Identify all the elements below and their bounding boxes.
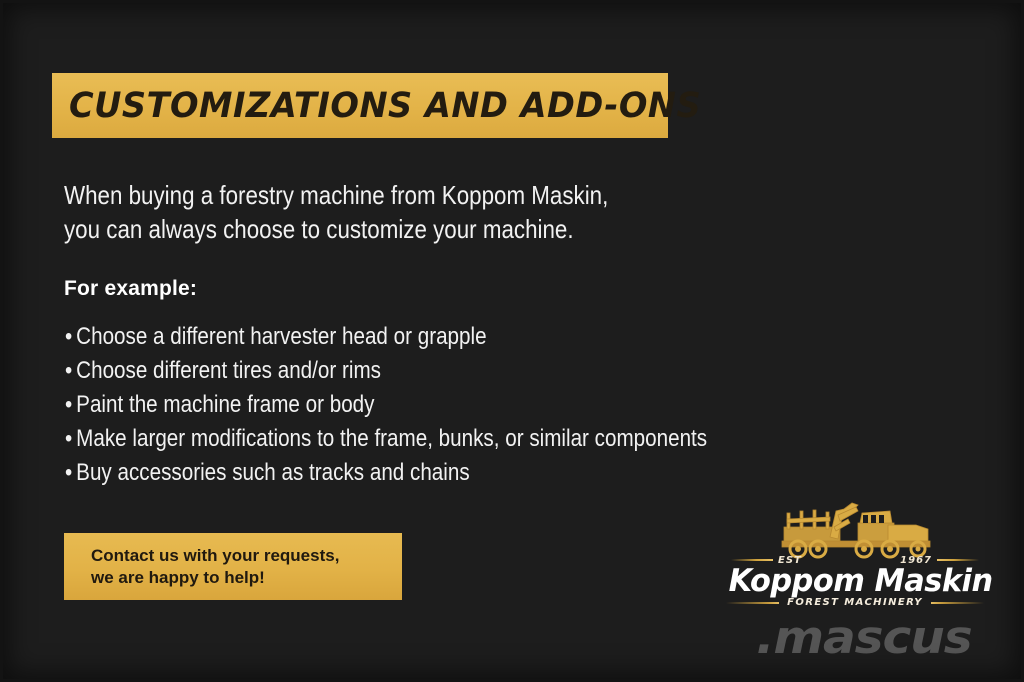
intro-line-1: When buying a forestry machine from Kopp… xyxy=(64,178,718,212)
logo-rule-left xyxy=(731,559,773,561)
intro-paragraph: When buying a forestry machine from Kopp… xyxy=(64,178,718,246)
list-item-label: Paint the machine frame or body xyxy=(76,391,374,418)
logo-subtitle: FOREST MACHINERY xyxy=(779,597,931,608)
logo-subtitle-rule-right xyxy=(931,602,984,604)
logo-subtitle-row: FOREST MACHINERY xyxy=(726,597,984,608)
bullet-icon: • xyxy=(65,354,76,388)
forwarder-machine-icon xyxy=(778,497,938,559)
list-item: •Paint the machine frame or body xyxy=(65,388,805,422)
list-item: •Make larger modifications to the frame,… xyxy=(65,422,805,456)
bullet-icon: • xyxy=(65,320,76,354)
contact-line-2: we are happy to help! xyxy=(91,567,402,589)
list-item-label: Buy accessories such as tracks and chain… xyxy=(76,459,469,486)
logo-wordmark: Koppom Maskin xyxy=(729,563,982,599)
contact-line-1: Contact us with your requests, xyxy=(91,545,402,567)
bullet-icon: • xyxy=(65,388,76,422)
slide-canvas: CUSTOMIZATIONS AND ADD-ONS When buying a… xyxy=(0,0,1024,682)
title-banner: CUSTOMIZATIONS AND ADD-ONS xyxy=(52,73,668,138)
list-item: •Buy accessories such as tracks and chai… xyxy=(65,456,805,490)
list-item: •Choose different tires and/or rims xyxy=(65,354,805,388)
page-title: CUSTOMIZATIONS AND ADD-ONS xyxy=(69,86,701,126)
customization-options-list: •Choose a different harvester head or gr… xyxy=(65,320,805,490)
list-item: •Choose a different harvester head or gr… xyxy=(65,320,805,354)
mascus-watermark: .mascus xyxy=(756,611,972,664)
bullet-icon: • xyxy=(65,456,76,490)
list-item-label: Make larger modifications to the frame, … xyxy=(76,425,707,452)
for-example-heading: For example: xyxy=(64,277,197,301)
list-item-label: Choose different tires and/or rims xyxy=(76,357,381,384)
list-item-label: Choose a different harvester head or gra… xyxy=(76,323,486,350)
logo-rule-right xyxy=(937,559,979,561)
intro-line-2: you can always choose to customize your … xyxy=(64,212,718,246)
bullet-icon: • xyxy=(65,422,76,456)
koppom-maskin-logo: EST 1967 Koppom Maskin FOREST MACHINERY xyxy=(726,497,984,609)
logo-subtitle-rule-left xyxy=(726,602,779,604)
contact-us-callout[interactable]: Contact us with your requests, we are ha… xyxy=(64,533,402,600)
